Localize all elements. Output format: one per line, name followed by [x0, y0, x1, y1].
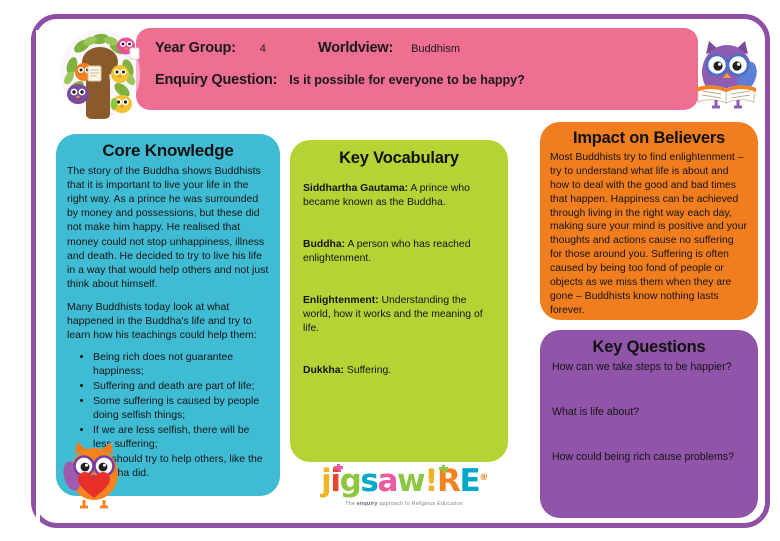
core-knowledge-paragraph: Many Buddhists today look at what happen… [67, 300, 269, 342]
registered-trademark-mark: ® [479, 474, 487, 483]
worldview-label: Worldview: [318, 40, 393, 56]
vocabulary-entry: Dukkha: Suffering. [303, 364, 495, 378]
core-knowledge-title: Core Knowledge [67, 141, 269, 161]
vocabulary-term: Dukkha: [303, 365, 344, 376]
logo-letter: a [377, 466, 397, 497]
enquiry-question-value: Is it possible for everyone to be happy? [289, 73, 524, 87]
key-vocabulary-title: Key Vocabulary [303, 149, 495, 168]
tagline-prefix: The [345, 501, 357, 507]
logo-letter: j [321, 466, 330, 497]
vocabulary-entry: Siddhartha Gautama: A prince who became … [303, 182, 495, 210]
worldview-value: Buddhism [411, 43, 460, 55]
list-item: Suffering and death are part of life; [93, 380, 269, 394]
panel-key-vocabulary: Key Vocabulary Siddhartha Gautama: A pri… [290, 140, 508, 462]
logo-letter: ! [424, 466, 437, 497]
list-item: Some suffering is caused by people doing… [93, 395, 269, 423]
year-group-value: 4 [260, 43, 266, 55]
impact-on-believers-title: Impact on Believers [550, 129, 748, 148]
impact-on-believers-text: Most Buddhists try to find enlightenment… [550, 151, 748, 318]
tagline-suffix: approach to Religious Education [378, 501, 463, 507]
list-item: Being rich does not guarantee happiness; [93, 351, 269, 379]
jigsaw-re-logo: jigsaw!RE® The enquiry approach to Relig… [318, 466, 490, 518]
owl-orange-reading [75, 63, 101, 81]
vocabulary-entry: Buddha: A person who has reached enlight… [303, 238, 495, 266]
vocabulary-term: Siddhartha Gautama: [303, 183, 408, 194]
logo-letter: s [360, 466, 377, 497]
header-banner: Year Group: 4 Worldview: Buddhism Enquir… [136, 28, 698, 110]
year-group-row: Year Group: 4 [155, 40, 266, 56]
impact-on-believers-body: Most Buddhists try to find enlightenment… [550, 151, 748, 318]
logo-letter: w [397, 466, 424, 497]
key-question: What is life about? [552, 406, 746, 420]
knowledge-organiser-page: Year Group: 4 Worldview: Buddhism Enquir… [0, 0, 780, 541]
logo-tagline: The enquiry approach to Religious Educat… [318, 501, 490, 507]
year-group-label: Year Group: [155, 40, 236, 56]
vocabulary-definition: Suffering. [344, 365, 391, 376]
owl-tree-icon [56, 24, 144, 120]
owl-purple-small [67, 84, 89, 104]
core-knowledge-paragraph: The story of the Buddha shows Buddhists … [67, 164, 269, 291]
key-question: How can we take steps to be happier? [552, 361, 746, 375]
owl-with-heart-icon [58, 430, 130, 512]
key-questions-title: Key Questions [552, 338, 746, 357]
puzzle-piece-icon [438, 464, 449, 475]
owl-yellow-small [111, 65, 129, 83]
tagline-emphasis: enquiry [357, 501, 378, 507]
panel-impact-on-believers: Impact on Believers Most Buddhists try t… [540, 122, 758, 320]
vocabulary-term: Enlightenment: [303, 295, 379, 306]
frame-spine [36, 30, 40, 522]
puzzle-piece-icon [332, 462, 345, 475]
enquiry-question-row: Enquiry Question: Is it possible for eve… [155, 72, 525, 88]
key-question: How could being rich cause problems? [552, 451, 746, 465]
vocabulary-term: Buddha: [303, 239, 345, 250]
vocabulary-entry: Enlightenment: Understanding the world, … [303, 294, 495, 336]
owl-reading-book-icon [690, 28, 764, 112]
worldview-row: Worldview: Buddhism [318, 40, 460, 56]
panel-key-questions: Key Questions How can we take steps to b… [540, 330, 758, 518]
logo-letter: E [459, 466, 479, 497]
enquiry-question-label: Enquiry Question: [155, 72, 277, 88]
